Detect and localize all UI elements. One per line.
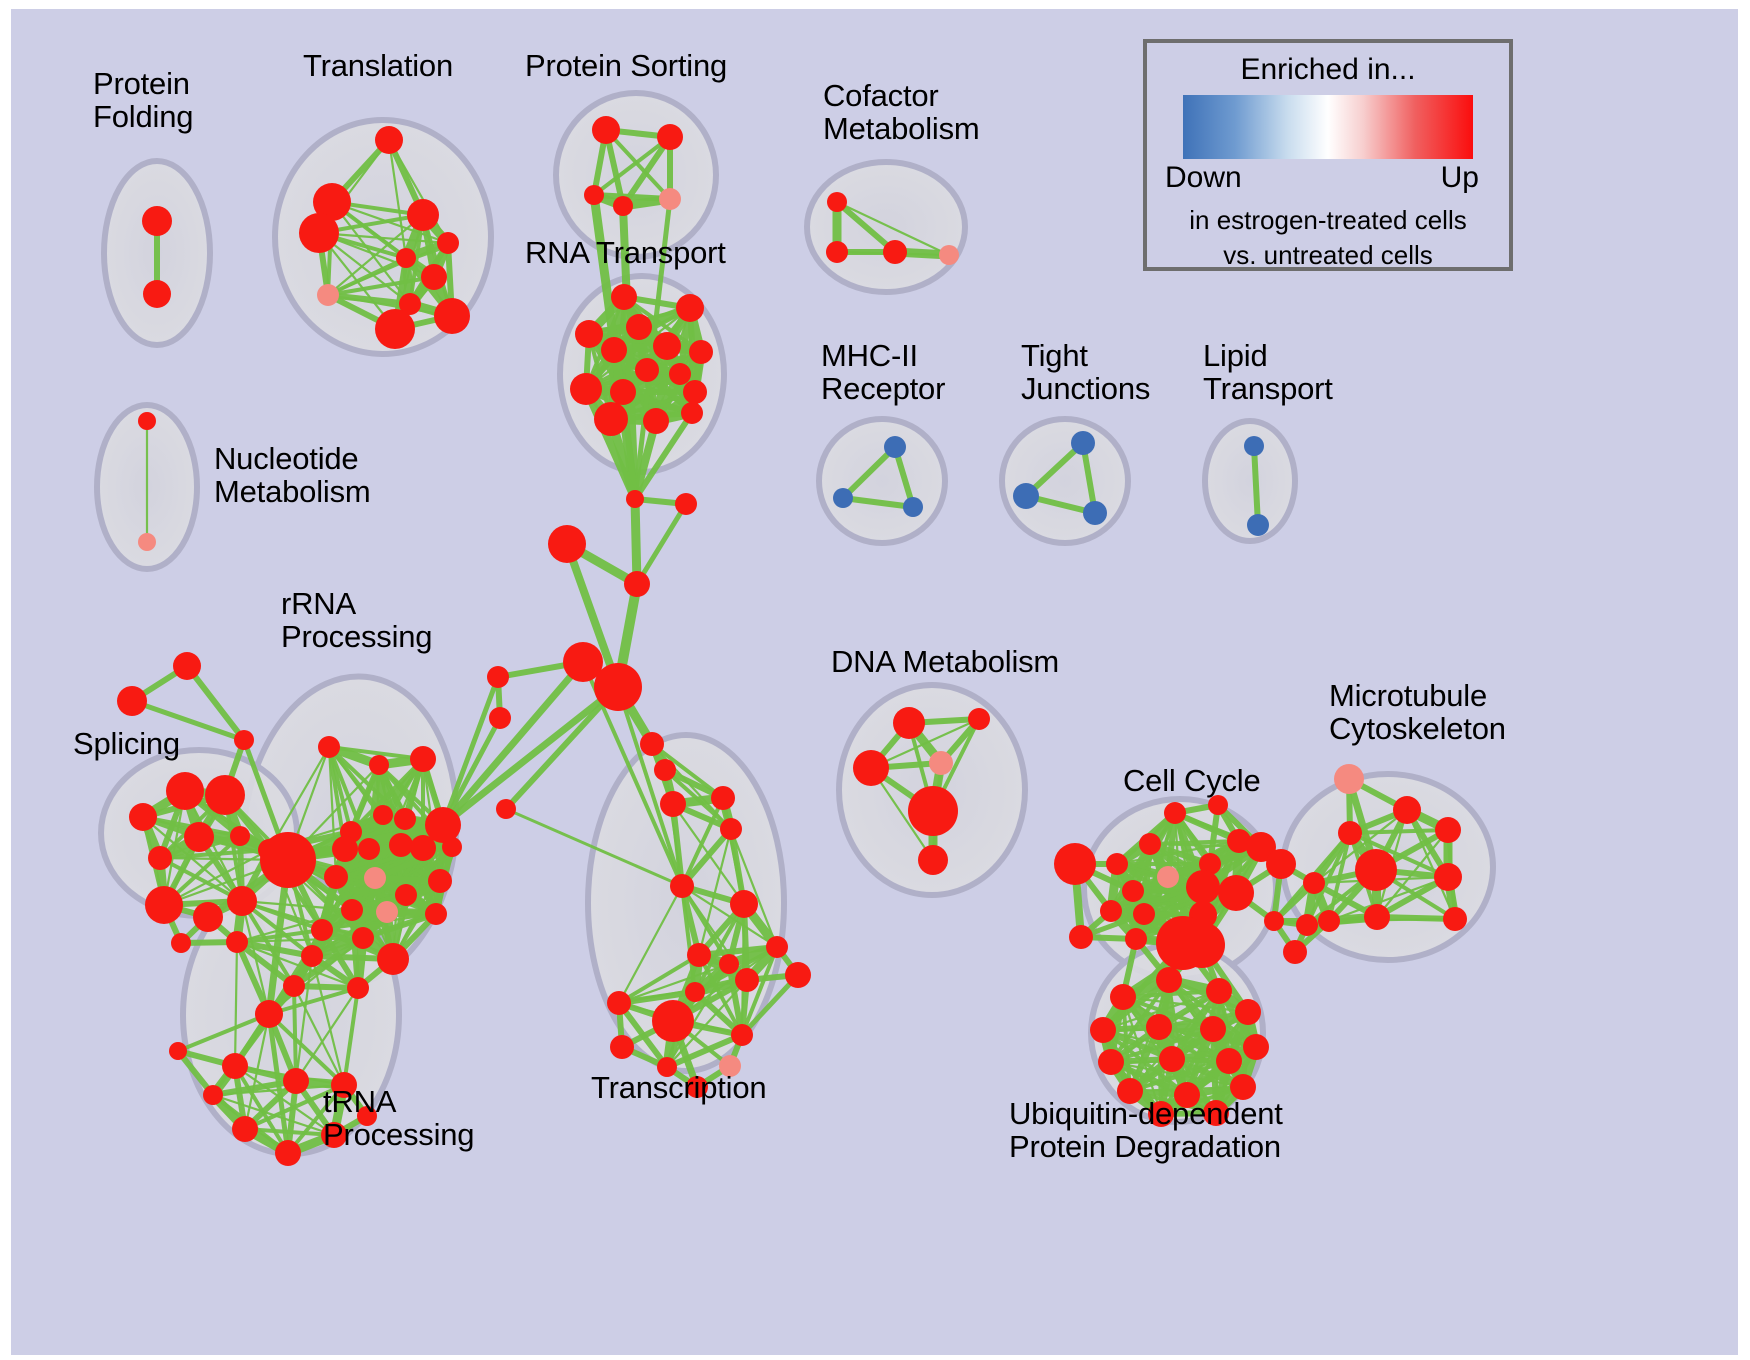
gene-set-node[interactable] [766, 936, 788, 958]
gene-set-node[interactable] [660, 791, 686, 817]
cluster-label-line: Cytoskeleton [1329, 712, 1506, 745]
gene-set-node[interactable] [117, 686, 147, 716]
gene-set-node[interactable] [594, 402, 628, 436]
gene-set-node[interactable] [657, 124, 683, 150]
gene-set-node[interactable] [489, 707, 511, 729]
gene-set-node[interactable] [143, 280, 171, 308]
cluster-label-line: Cofactor [823, 79, 980, 112]
cluster-label-line: Lipid [1203, 339, 1333, 372]
gene-set-node[interactable] [1139, 833, 1161, 855]
gene-set-node[interactable] [222, 1053, 248, 1079]
gene-set-node[interactable] [232, 1116, 258, 1142]
cluster-label-microtubule-cytoskeleton: MicrotubuleCytoskeleton [1329, 679, 1506, 746]
gene-set-node[interactable] [611, 284, 637, 310]
gene-set-node[interactable] [375, 126, 403, 154]
gene-set-node[interactable] [833, 488, 853, 508]
gene-set-node[interactable] [487, 666, 509, 688]
gene-set-node[interactable] [968, 708, 990, 730]
gene-set-node[interactable] [341, 899, 363, 921]
gene-set-node[interactable] [903, 497, 923, 517]
gene-set-node[interactable] [1122, 880, 1144, 902]
gene-set-node[interactable] [929, 751, 953, 775]
gene-set-node[interactable] [318, 736, 340, 758]
gene-set-node[interactable] [659, 188, 681, 210]
gene-set-node[interactable] [205, 775, 245, 815]
gene-set-node[interactable] [171, 933, 191, 953]
gene-set-node[interactable] [687, 943, 711, 967]
gene-set-node[interactable] [1243, 1034, 1269, 1060]
cluster-label-line: Junctions [1021, 372, 1150, 405]
gene-set-node[interactable] [377, 943, 409, 975]
cluster-label-line: Nucleotide [214, 442, 371, 475]
gene-set-node[interactable] [1054, 843, 1096, 885]
cluster-label-line: Cell Cycle [1123, 764, 1261, 797]
gene-set-node[interactable] [1186, 870, 1220, 904]
cluster-label-line: Protein [93, 67, 193, 100]
gene-set-node[interactable] [352, 927, 374, 949]
cluster-label-rrna-processing: rRNAProcessing [281, 587, 432, 654]
gene-set-node[interactable] [395, 884, 417, 906]
gene-set-node[interactable] [683, 380, 707, 404]
cluster-label-transcription: Transcription [591, 1071, 766, 1104]
gene-set-node[interactable] [410, 835, 436, 861]
legend-box: Enriched in... Down Up in estrogen-treat… [1143, 39, 1513, 271]
gene-set-node[interactable] [437, 232, 459, 254]
gene-set-node[interactable] [635, 358, 659, 382]
cluster-label-dna-metabolism: DNA Metabolism [831, 645, 1059, 678]
cluster-label-trna-processing: tRNAProcessing [323, 1085, 474, 1152]
cluster-label-rna-transport: RNA Transport [525, 236, 726, 269]
gene-set-node[interactable] [138, 533, 156, 551]
edge [637, 504, 686, 584]
gene-set-node[interactable] [425, 903, 447, 925]
cluster-label-line: Protein Degradation [1009, 1130, 1283, 1163]
cluster-label-line: Folding [93, 100, 193, 133]
gene-set-node[interactable] [893, 707, 925, 739]
cluster-label-line: rRNA [281, 587, 432, 620]
cluster-label-translation: Translation [303, 49, 453, 82]
gene-set-node[interactable] [613, 196, 633, 216]
gene-set-node[interactable] [1164, 802, 1186, 824]
gene-set-node[interactable] [1125, 928, 1147, 950]
gene-set-node[interactable] [407, 199, 439, 231]
gene-set-node[interactable] [826, 241, 848, 263]
gene-set-node[interactable] [685, 982, 705, 1002]
edge [1254, 446, 1258, 525]
cluster-label-line: Processing [323, 1118, 474, 1151]
gene-set-node[interactable] [184, 822, 214, 852]
gene-set-node[interactable] [548, 525, 586, 563]
gene-set-node[interactable] [654, 759, 676, 781]
gene-set-node[interactable] [670, 874, 694, 898]
cluster-label-line: Microtubule [1329, 679, 1506, 712]
cluster-label-cell-cycle: Cell Cycle [1123, 764, 1261, 797]
cluster-ellipse-protein-sorting [556, 93, 716, 257]
gene-set-node[interactable] [428, 869, 452, 893]
cluster-label-line: RNA Transport [525, 236, 726, 269]
cluster-label-line: Transcription [591, 1071, 766, 1104]
gene-set-node[interactable] [939, 245, 959, 265]
gene-set-node[interactable] [1069, 925, 1093, 949]
gene-set-node[interactable] [653, 332, 681, 360]
cluster-label-line: MHC-II [821, 339, 945, 372]
cluster-label-line: Transport [1203, 372, 1333, 405]
gene-set-node[interactable] [1435, 817, 1461, 843]
cluster-label-line: Receptor [821, 372, 945, 405]
gene-set-node[interactable] [1364, 904, 1390, 930]
gene-set-node[interactable] [227, 886, 257, 916]
gene-set-node[interactable] [148, 846, 172, 870]
gene-set-node[interactable] [230, 826, 250, 846]
gene-set-node[interactable] [1303, 872, 1325, 894]
gene-set-node[interactable] [1090, 1017, 1116, 1043]
gene-set-node[interactable] [607, 991, 631, 1015]
edge [294, 986, 296, 1081]
gene-set-node[interactable] [1146, 1014, 1172, 1040]
gene-set-node[interactable] [918, 845, 948, 875]
gene-set-node[interactable] [166, 772, 204, 810]
gene-set-node[interactable] [410, 746, 436, 772]
gene-set-node[interactable] [1157, 866, 1179, 888]
gene-set-node[interactable] [203, 1085, 223, 1105]
cluster-label-line: DNA Metabolism [831, 645, 1059, 678]
cluster-label-splicing: Splicing [73, 727, 180, 760]
cluster-label-line: Ubiquitin-dependent [1009, 1097, 1283, 1130]
gene-set-node[interactable] [719, 954, 739, 974]
gene-set-node[interactable] [720, 818, 742, 840]
gene-set-node[interactable] [676, 294, 704, 322]
gene-set-node[interactable] [640, 732, 664, 756]
gene-set-node[interactable] [145, 886, 183, 924]
gene-set-node[interactable] [142, 206, 172, 236]
gene-set-node[interactable] [324, 865, 348, 889]
gene-set-node[interactable] [610, 379, 636, 405]
cluster-label-line: Tight [1021, 339, 1150, 372]
gene-set-node[interactable] [1393, 796, 1421, 824]
cluster-label-tight-junctions: TightJunctions [1021, 339, 1150, 406]
gene-set-node[interactable] [1106, 853, 1128, 875]
gene-set-node[interactable] [626, 490, 644, 508]
gene-set-node[interactable] [1200, 1016, 1226, 1042]
cluster-label-line: Metabolism [823, 112, 980, 145]
gene-set-node[interactable] [442, 837, 462, 857]
gene-set-node[interactable] [1083, 501, 1107, 525]
gene-set-node[interactable] [853, 750, 889, 786]
cluster-ellipse-cofactor-metabolism [807, 162, 965, 292]
gene-set-node[interactable] [394, 808, 416, 830]
gene-set-node[interactable] [1334, 764, 1364, 794]
gene-set-node[interactable] [669, 363, 691, 385]
gene-set-node[interactable] [1235, 999, 1261, 1025]
gene-set-node[interactable] [652, 1000, 694, 1042]
gene-set-node[interactable] [1098, 1049, 1124, 1075]
gene-set-node[interactable] [731, 1024, 753, 1046]
cluster-label-line: Translation [303, 49, 453, 82]
gene-set-node[interactable] [675, 493, 697, 515]
gene-set-node[interactable] [689, 340, 713, 364]
gene-set-node[interactable] [369, 755, 389, 775]
gene-set-node[interactable] [311, 919, 333, 941]
gene-set-node[interactable] [283, 1068, 309, 1094]
gene-set-node[interactable] [1100, 900, 1122, 922]
gene-set-node[interactable] [260, 832, 316, 888]
gene-set-node[interactable] [1179, 922, 1225, 968]
gene-set-node[interactable] [908, 786, 958, 836]
gene-set-node[interactable] [785, 962, 811, 988]
gene-set-node[interactable] [255, 1000, 283, 1028]
gene-set-node[interactable] [347, 977, 369, 999]
gene-set-node[interactable] [1318, 910, 1340, 932]
gene-set-node[interactable] [1296, 914, 1318, 936]
gene-set-node[interactable] [421, 264, 447, 290]
gene-set-node[interactable] [735, 968, 759, 992]
gene-set-node[interactable] [827, 192, 847, 212]
gene-set-node[interactable] [643, 408, 669, 434]
gene-set-node[interactable] [1218, 875, 1254, 911]
gene-set-node[interactable] [299, 213, 339, 253]
gene-set-node[interactable] [1071, 431, 1095, 455]
cluster-label-line: Protein Sorting [525, 49, 727, 82]
cluster-label-line: tRNA [323, 1085, 474, 1118]
cluster-label-protein-sorting: Protein Sorting [525, 49, 727, 82]
gene-set-node[interactable] [626, 314, 652, 340]
gene-set-node[interactable] [584, 185, 604, 205]
gene-set-node[interactable] [1206, 978, 1232, 1004]
gene-set-node[interactable] [389, 833, 413, 857]
gene-set-node[interactable] [884, 436, 906, 458]
cluster-label-nucleotide-metabolism: NucleotideMetabolism [214, 442, 371, 509]
gene-set-node[interactable] [1244, 436, 1264, 456]
gene-set-node[interactable] [434, 298, 470, 334]
gene-set-node[interactable] [1355, 849, 1397, 891]
gene-set-node[interactable] [169, 1042, 187, 1060]
gene-set-node[interactable] [275, 1140, 301, 1166]
legend-up-label: Up [1441, 161, 1479, 195]
gene-set-node[interactable] [1216, 1048, 1242, 1074]
gene-set-node[interactable] [594, 663, 642, 711]
color-scale-bar [1183, 95, 1473, 159]
legend-caption-line1: in estrogen-treated cells [1147, 205, 1509, 236]
gene-set-node[interactable] [681, 402, 703, 424]
legend-caption-line2: vs. untreated cells [1147, 240, 1509, 271]
cluster-label-cofactor-metabolism: CofactorMetabolism [823, 79, 980, 146]
figure-root: ProteinFoldingTranslationProtein Sorting… [0, 0, 1750, 1360]
legend-down-label: Down [1165, 161, 1242, 195]
gene-set-node[interactable] [730, 890, 758, 918]
gene-set-node[interactable] [1110, 984, 1136, 1010]
gene-set-node[interactable] [1266, 849, 1296, 879]
gene-set-node[interactable] [575, 320, 603, 348]
gene-set-node[interactable] [364, 867, 386, 889]
gene-set-node[interactable] [138, 412, 156, 430]
gene-set-node[interactable] [193, 902, 223, 932]
gene-set-node[interactable] [173, 652, 201, 680]
gene-set-node[interactable] [375, 309, 415, 349]
gene-set-node[interactable] [624, 571, 650, 597]
gene-set-node[interactable] [301, 945, 323, 967]
cluster-label-line: Metabolism [214, 475, 371, 508]
cluster-label-ubiquitin-degradation: Ubiquitin-dependentProtein Degradation [1009, 1097, 1283, 1164]
gene-set-node[interactable] [592, 116, 620, 144]
gene-set-node[interactable] [496, 799, 516, 819]
cluster-ellipse-tight-junctions [1002, 419, 1128, 543]
gene-set-node[interactable] [1443, 907, 1467, 931]
gene-set-node[interactable] [234, 730, 254, 750]
cluster-label-line: Processing [281, 620, 432, 653]
cluster-ellipse-mhc-ii-receptor [819, 419, 945, 543]
gene-set-node[interactable] [1283, 940, 1307, 964]
gene-set-node[interactable] [1159, 1046, 1185, 1072]
gene-set-node[interactable] [358, 838, 380, 860]
gene-set-node[interactable] [711, 786, 735, 810]
gene-set-node[interactable] [226, 931, 248, 953]
gene-set-node[interactable] [610, 1035, 634, 1059]
gene-set-node[interactable] [1264, 911, 1284, 931]
gene-set-node[interactable] [570, 373, 602, 405]
gene-set-node[interactable] [1434, 863, 1462, 891]
gene-set-node[interactable] [1208, 795, 1228, 815]
gene-set-node[interactable] [332, 836, 358, 862]
gene-set-node[interactable] [129, 803, 157, 831]
gene-set-node[interactable] [396, 248, 416, 268]
gene-set-node[interactable] [283, 975, 305, 997]
cluster-label-lipid-transport: LipidTransport [1203, 339, 1333, 406]
gene-set-node[interactable] [1133, 903, 1155, 925]
gene-set-node[interactable] [373, 805, 393, 825]
gene-set-node[interactable] [317, 284, 339, 306]
gene-set-node[interactable] [376, 901, 398, 923]
gene-set-node[interactable] [1013, 483, 1039, 509]
gene-set-node[interactable] [1338, 821, 1362, 845]
gene-set-node[interactable] [601, 337, 627, 363]
gene-set-node[interactable] [1247, 514, 1269, 536]
legend-title: Enriched in... [1147, 53, 1509, 87]
cluster-label-protein-folding: ProteinFolding [93, 67, 193, 134]
cluster-label-mhc-ii-receptor: MHC-IIReceptor [821, 339, 945, 406]
cluster-label-line: Splicing [73, 727, 180, 760]
network-canvas: ProteinFoldingTranslationProtein Sorting… [11, 9, 1738, 1355]
gene-set-node[interactable] [1156, 967, 1182, 993]
gene-set-node[interactable] [883, 240, 907, 264]
